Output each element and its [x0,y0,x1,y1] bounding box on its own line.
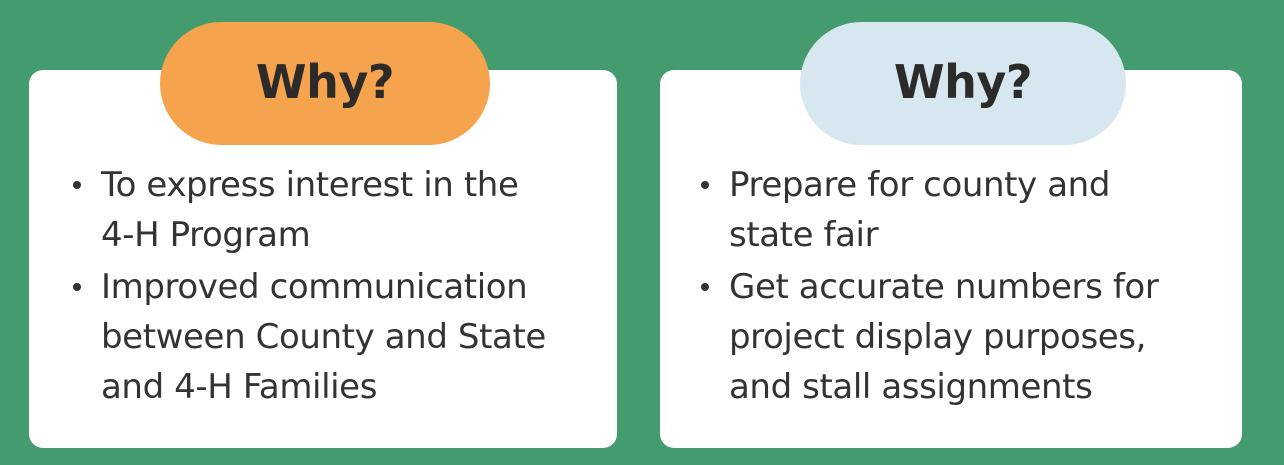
list-item: Improved communication between County an… [66,262,618,412]
page-title-left: Why? [256,59,394,105]
page-title-right: Why? [894,59,1032,105]
heading-pill-left: Why? [160,22,490,145]
slide-canvas: To express interest in the 4-H Program I… [0,0,1284,465]
heading-pill-right: Why? [800,22,1126,145]
list-item: Get accurate numbers for project display… [694,262,1234,412]
bullet-list-right: Prepare for county and state fair Get ac… [694,160,1234,414]
list-item: Prepare for county and state fair [694,160,1234,260]
bullet-list-left: To express interest in the 4-H Program I… [66,160,618,414]
list-item: To express interest in the 4-H Program [66,160,618,260]
